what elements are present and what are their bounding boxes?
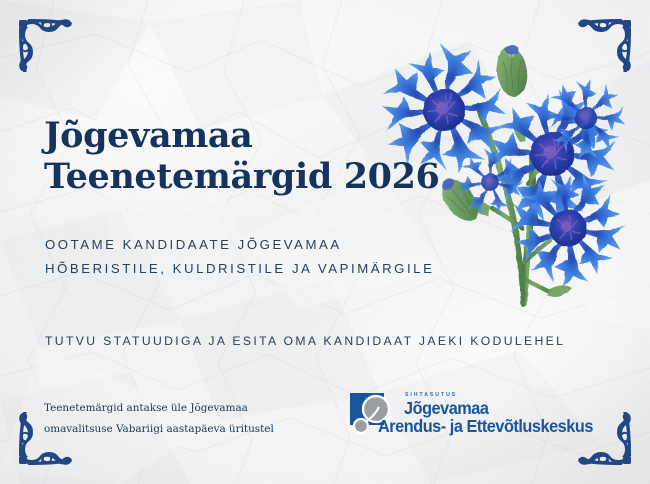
paper-vignette	[0, 0, 650, 484]
poster-canvas: Jõgevamaa Teenetemärgid 2026 OOTAME KAND…	[0, 0, 650, 484]
